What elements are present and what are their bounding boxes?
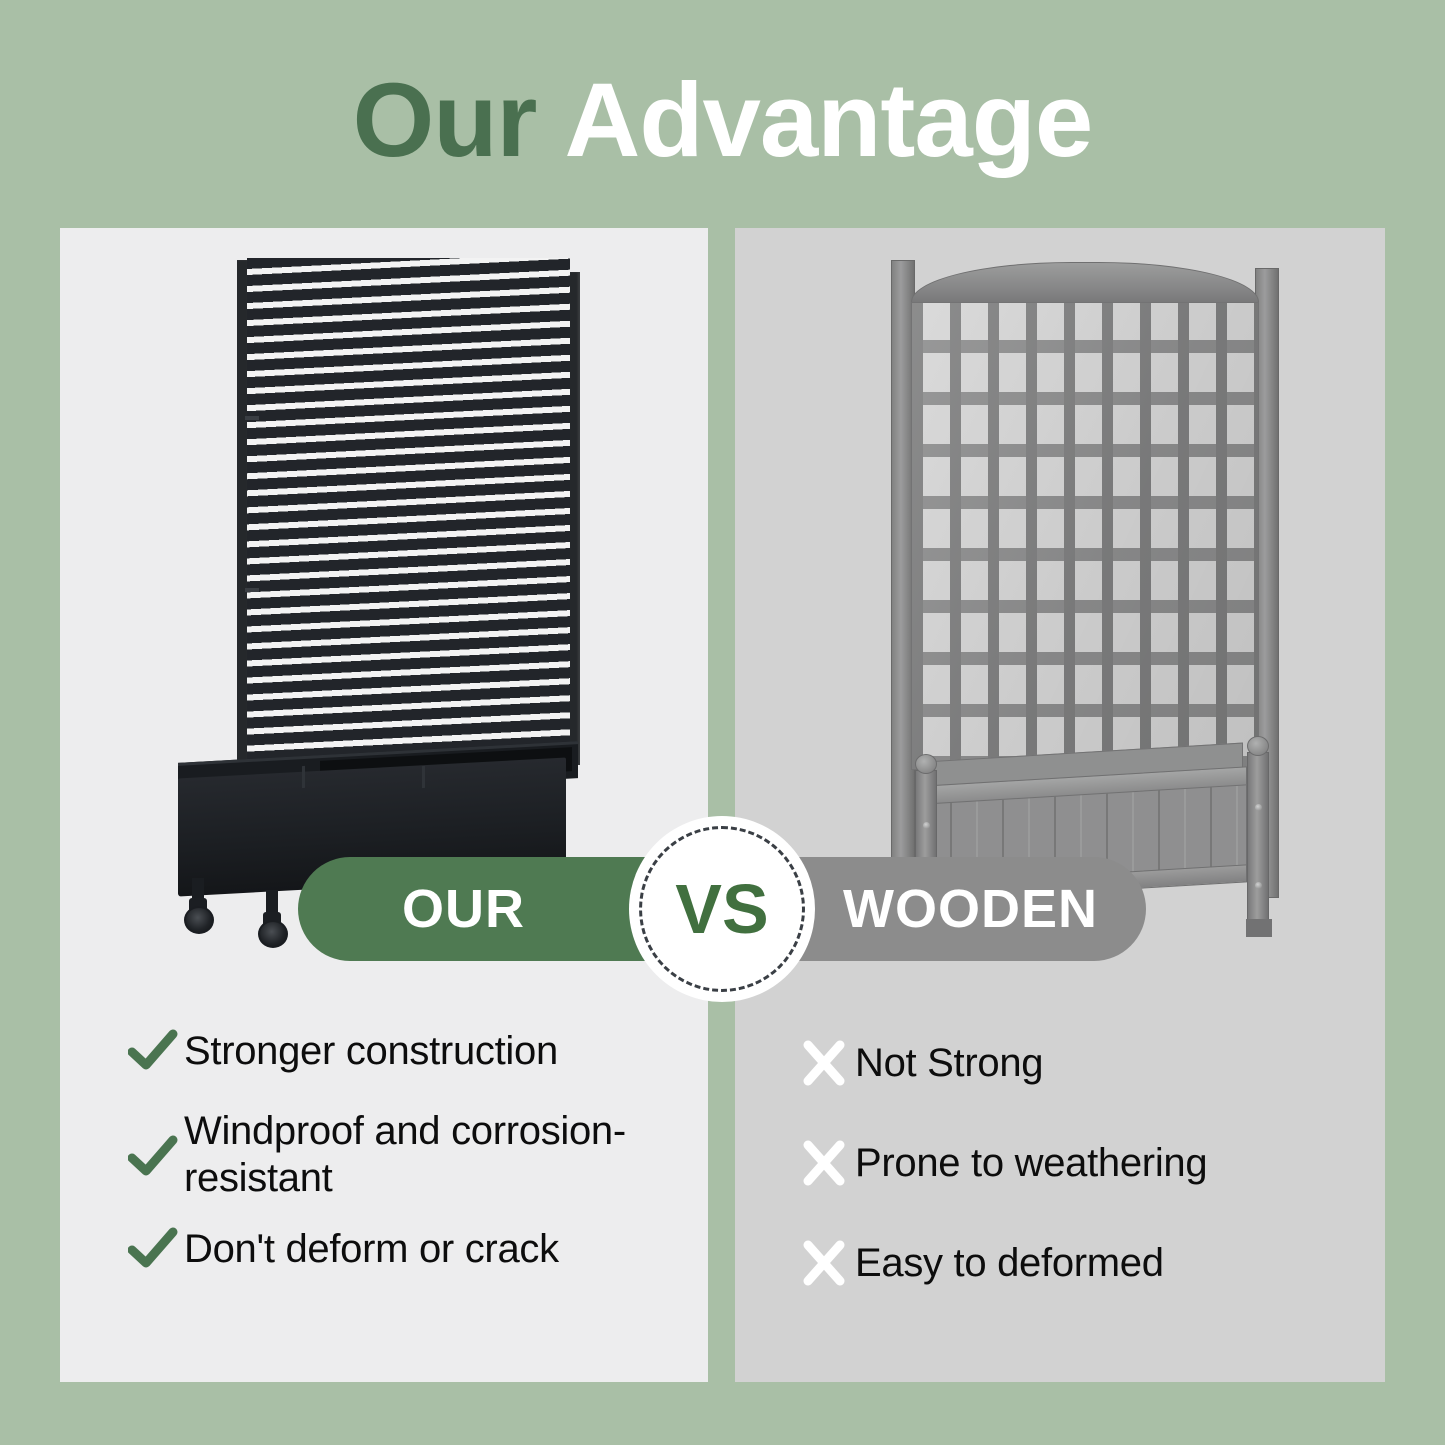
feature-row: Stronger construction [122,1028,682,1075]
wooden-planter-box [901,752,1279,927]
planter-front-panel [178,757,566,896]
planter-foot [1246,919,1272,937]
check-icon [122,1226,184,1270]
lattice-shading [912,303,1258,769]
planter-corner-post [915,770,937,920]
feature-label: Don't deform or crack [184,1226,559,1273]
planter-divider [302,766,305,788]
screen-slats [247,258,570,765]
feature-label: Not Strong [855,1040,1043,1087]
feature-label: Windproof and corrosion-resistant [184,1108,682,1202]
cross-icon [793,1040,855,1086]
feature-row: Easy to deformed [793,1240,1373,1287]
finial-cap [1247,736,1269,756]
cross-icon [793,1240,855,1286]
planter-corner-post [1247,752,1269,920]
screen-rail-mark [245,588,259,592]
caster-wheel-disc [184,906,214,934]
screw-head [923,822,930,829]
feature-label: Prone to weathering [855,1140,1207,1187]
our-product-image [170,250,590,968]
caster-wheel-disc [258,920,288,948]
page-title-highlight: Our [353,62,537,179]
screw-head [1255,882,1262,889]
caster-wheel [258,912,286,942]
feature-row: Windproof and corrosion-resistant [122,1108,682,1202]
panel-our-product: Stronger construction Windproof and corr… [60,228,708,1382]
feature-label: Stronger construction [184,1028,558,1075]
trellis-lattice [911,302,1259,770]
feature-row: Not Strong [793,1040,1373,1087]
check-icon [122,1108,184,1178]
screen-rail-mark [245,416,259,420]
trellis-arched-top-rail [911,262,1259,306]
page-title: Our Advantage [0,62,1445,180]
planter-divider [422,766,425,788]
finial-cap [915,754,937,774]
advantage-comparison-infographic: Our Advantage [0,0,1445,1445]
louvered-screen [235,250,580,765]
cross-icon [793,1140,855,1186]
feature-row: Prone to weathering [793,1140,1373,1187]
black-planter-box [170,746,590,896]
wooden-product-image [875,244,1295,984]
caster-wheel [184,898,212,928]
check-icon [122,1028,184,1072]
screw-head [1255,804,1262,811]
feature-label: Easy to deformed [855,1240,1164,1287]
page-title-rest: Advantage [565,62,1093,179]
panel-wooden-product: Not Strong Prone to weathering Easy to d… [735,228,1385,1382]
feature-row: Don't deform or crack [122,1226,682,1273]
